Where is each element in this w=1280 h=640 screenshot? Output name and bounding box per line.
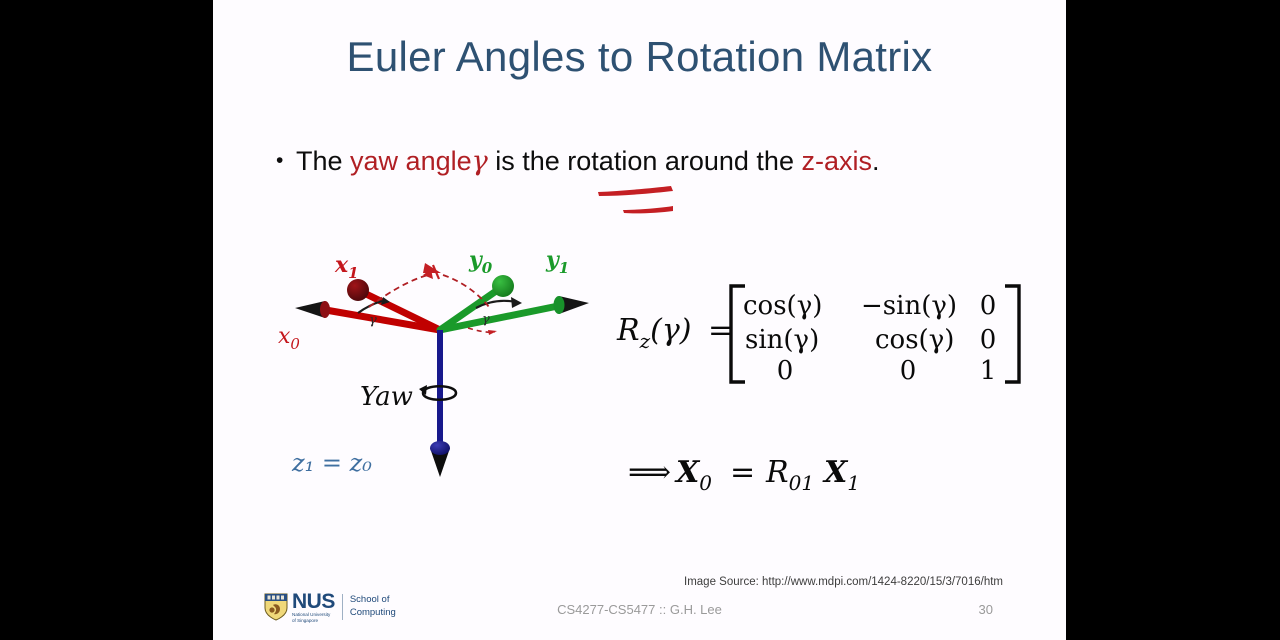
angle-label-gamma-y: γ: [482, 312, 490, 327]
image-source-caption: Image Source: http://www.mdpi.com/1424-8…: [213, 576, 1003, 588]
matrix-cell-1-0: sin(γ): [745, 325, 819, 355]
matrix-lhs: Rz(γ): [616, 313, 691, 353]
red-ink-underline-annotation: [593, 182, 713, 222]
result-equation: ⟹ X0 = R01 X1: [618, 440, 1018, 500]
nus-wordmark: NUS: [292, 591, 335, 612]
bullet-highlight-yaw-angle: yaw angle: [350, 146, 472, 176]
label-y0: y0: [468, 247, 493, 277]
logo-divider: [342, 594, 343, 620]
matrix-cell-0-0: cos(γ): [743, 291, 822, 321]
matrix-cell-2-0: 0: [777, 356, 794, 386]
label-x1: x1: [334, 252, 359, 282]
bullet-text-line: •The yaw angleγ is the rotation around t…: [276, 146, 1036, 177]
axis-x0: [295, 301, 440, 330]
yaw-rotation-diagram: γ γ x0: [273, 245, 603, 500]
matrix-cell-2-2: 1: [980, 356, 997, 386]
result-rhs-r: R01: [765, 455, 814, 495]
nus-crest-icon: [263, 592, 289, 622]
label-yaw: Yaw: [360, 382, 413, 412]
label-z1-equals-z0: z₁ = z₀: [291, 449, 372, 477]
school-name-line1: School of: [350, 594, 396, 607]
presentation-slide: Euler Angles to Rotation Matrix •The yaw…: [213, 0, 1066, 640]
implies-symbol: ⟹: [628, 455, 671, 490]
bullet-text-part1: The: [296, 146, 350, 176]
video-player-viewport: Euler Angles to Rotation Matrix •The yaw…: [0, 0, 1280, 640]
matrix-cell-0-1: −sin(γ): [861, 291, 957, 321]
angle-label-gamma-x: γ: [369, 313, 377, 328]
nus-subtitle-line2: of Singapore: [292, 618, 335, 624]
bullet-text-part3: .: [872, 146, 880, 176]
bullet-gamma-symbol: γ: [472, 146, 488, 177]
label-x0: x0: [278, 324, 300, 353]
matrix-cell-1-1: cos(γ): [875, 325, 954, 355]
matrix-cell-0-2: 0: [980, 291, 997, 321]
bullet-marker: •: [276, 149, 296, 173]
bullet-text-part2: is the rotation around the: [488, 146, 802, 176]
slide-title: Euler Angles to Rotation Matrix: [213, 33, 1066, 81]
school-name-line2: Computing: [350, 607, 396, 620]
result-equals: =: [730, 455, 755, 490]
nus-subtitle-line1: National University: [292, 612, 335, 618]
slide-page-number: 30: [953, 602, 993, 617]
matrix-right-bracket: [1005, 286, 1019, 382]
result-rhs-x: X1: [822, 455, 860, 495]
letterbox-bar-right: [1066, 0, 1280, 640]
result-lhs: X0: [674, 455, 712, 495]
bullet-highlight-z-axis: z-axis: [801, 146, 872, 176]
matrix-cell-2-1: 0: [900, 356, 917, 386]
letterbox-bar-left: [0, 0, 213, 640]
matrix-cell-1-2: 0: [980, 325, 997, 355]
nus-logo: NUS National University of Singapore Sch…: [263, 589, 413, 625]
axis-z: [430, 330, 450, 477]
label-y1: y1: [545, 247, 569, 277]
rotation-matrix-equation: Rz(γ) = cos(γ) −sin(γ) 0 sin(γ) cos(γ) 0…: [613, 272, 1033, 392]
